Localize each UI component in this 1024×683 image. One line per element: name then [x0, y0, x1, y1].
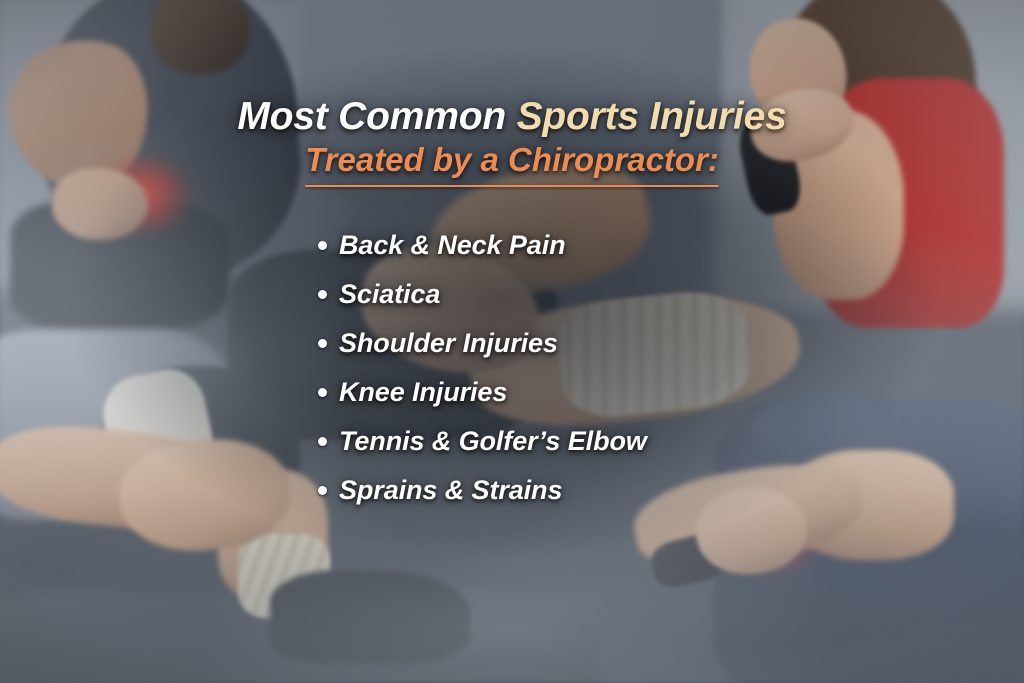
bullet-dot-icon	[318, 241, 327, 250]
headline-part-gold: Sports Injuries	[517, 95, 787, 138]
injury-list: Back & Neck Pain Sciatica Shoulder Injur…	[318, 221, 647, 515]
poster-content: Most Common Sports Injuries Treated by a…	[0, 0, 1024, 683]
page-subtitle: Treated by a Chiropractor:	[305, 142, 719, 178]
bullet-dot-icon	[318, 486, 327, 495]
subtitle-underline	[305, 185, 719, 188]
list-item: Back & Neck Pain	[318, 221, 647, 270]
subtitle-block: Treated by a Chiropractor:	[305, 142, 719, 187]
list-item: Knee Injuries	[318, 368, 647, 417]
bullet-dot-icon	[318, 437, 327, 446]
list-item: Tennis & Golfer’s Elbow	[318, 417, 647, 466]
list-item: Shoulder Injuries	[318, 319, 647, 368]
list-item-label: Shoulder Injuries	[339, 328, 558, 359]
bullet-dot-icon	[318, 339, 327, 348]
page-title: Most Common Sports Injuries	[237, 96, 786, 137]
infographic-poster: Most Common Sports Injuries Treated by a…	[0, 0, 1024, 683]
list-item: Sciatica	[318, 270, 647, 319]
bullet-dot-icon	[318, 388, 327, 397]
list-item-label: Knee Injuries	[339, 377, 507, 408]
bullet-dot-icon	[318, 290, 327, 299]
list-item-label: Tennis & Golfer’s Elbow	[339, 426, 647, 457]
list-item-label: Sprains & Strains	[339, 475, 562, 506]
headline-part-white: Most Common	[237, 95, 516, 138]
list-item: Sprains & Strains	[318, 466, 647, 515]
list-item-label: Sciatica	[339, 279, 440, 310]
list-item-label: Back & Neck Pain	[339, 230, 566, 261]
